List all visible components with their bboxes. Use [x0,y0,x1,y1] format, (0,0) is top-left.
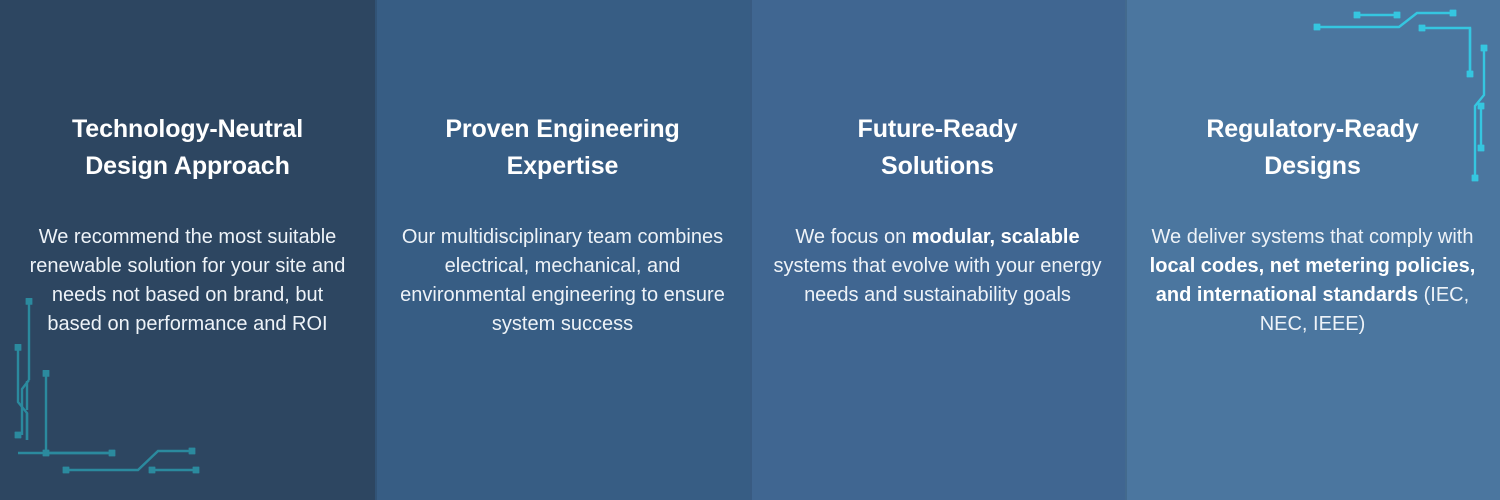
feature-cards-banner: Technology-NeutralDesign Approach We rec… [0,0,1500,500]
card-body: Our multidisciplinary team combines elec… [397,223,728,339]
card-title: Technology-NeutralDesign Approach [72,111,303,185]
card-body: We focus on modular, scalable systems th… [772,223,1103,310]
card-title: Proven EngineeringExpertise [445,111,679,185]
panel-divider [375,0,377,500]
card-body-emphasis: modular, scalable [912,226,1080,248]
card-body-emphasis: local codes, net metering policies, and … [1150,255,1476,306]
card-body: We deliver systems that comply with loca… [1147,223,1478,339]
card-title: Future-ReadySolutions [858,111,1018,185]
feature-card-future-ready-solutions: Future-ReadySolutions We focus on modula… [750,0,1125,500]
panel-divider [750,0,752,500]
feature-card-proven-engineering-expertise: Proven EngineeringExpertise Our multidis… [375,0,750,500]
card-body: We recommend the most suitable renewable… [22,223,353,339]
feature-card-technology-neutral-design-approach: Technology-NeutralDesign Approach We rec… [0,0,375,500]
feature-card-regulatory-ready-designs: Regulatory-ReadyDesigns We deliver syste… [1125,0,1500,500]
panel-divider [1125,0,1127,500]
card-title: Regulatory-ReadyDesigns [1206,111,1418,185]
